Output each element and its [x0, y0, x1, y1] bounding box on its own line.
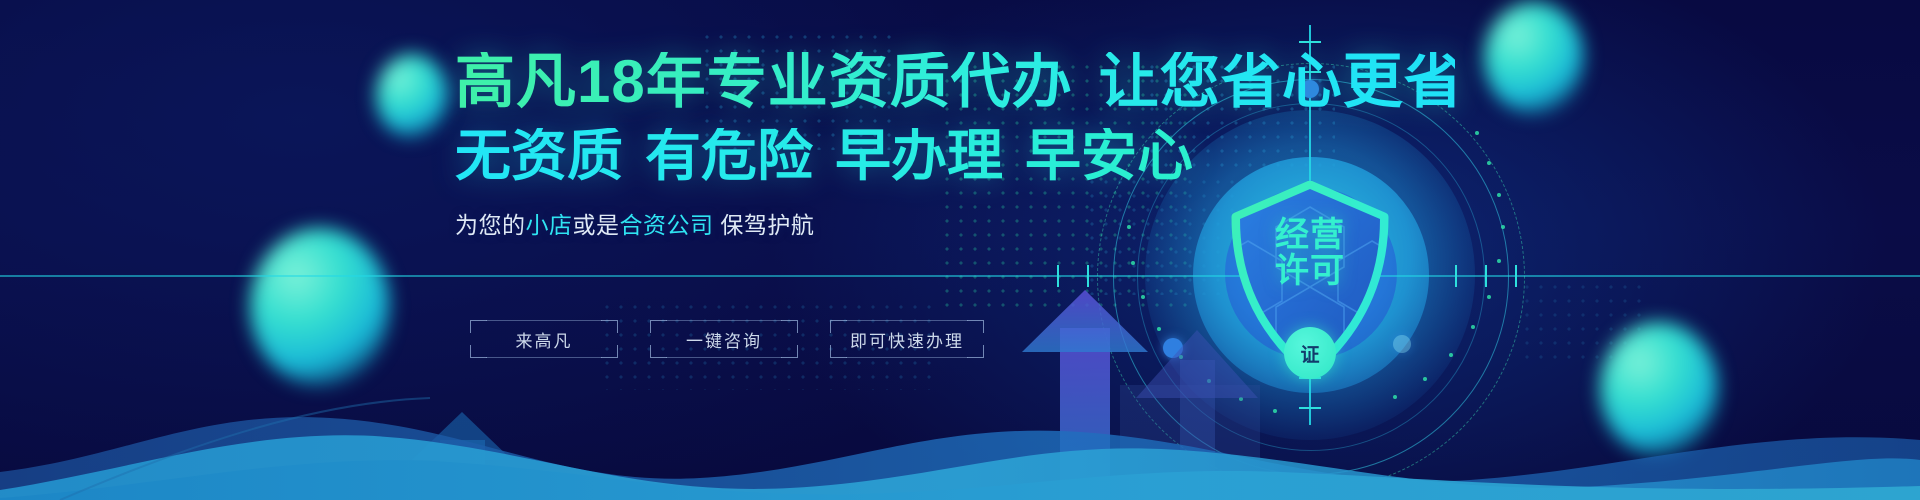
headline-line-1-part-a: 高凡18年专业资质代办	[455, 48, 1073, 115]
promo-banner: 经营 许可 证	[0, 0, 1920, 500]
tag-bottom-rule	[486, 357, 602, 358]
subtitle-highlight-2: 合资公司	[620, 212, 714, 238]
subtitle-middle: 或是	[573, 212, 620, 238]
tag-button-lai-gao-fan[interactable]: 来高凡	[470, 320, 618, 358]
tag-bottom-rule	[846, 357, 968, 358]
tag-top-rule	[486, 320, 602, 321]
subtitle-suffix: 保驾护航	[714, 212, 815, 238]
tag-label: 来高凡	[516, 327, 573, 352]
corner-bracket-icon	[781, 320, 798, 333]
hud-crosshair-horizontal	[0, 275, 1920, 277]
tag-top-rule	[846, 320, 968, 321]
corner-bracket-icon	[470, 320, 487, 333]
corner-bracket-icon	[470, 345, 487, 358]
corner-bracket-icon	[650, 320, 667, 333]
corner-bracket-icon	[830, 345, 847, 358]
subtitle-highlight-1: 小店	[526, 212, 573, 238]
shield-text-line2: 许可	[1228, 253, 1392, 289]
corner-bracket-icon	[650, 345, 667, 358]
headline-phrase-3: 早办理	[835, 124, 1003, 187]
subtitle-prefix: 为您的	[455, 212, 526, 238]
tag-button-one-click-consult[interactable]: 一键咨询	[650, 320, 798, 358]
corner-bracket-icon	[830, 320, 847, 333]
headline-line-1: 高凡18年专业资质代办让您省心更省力	[455, 52, 1455, 112]
headline-line-1-part-b: 让您省心更省力	[1099, 48, 1526, 115]
tag-label: 即可快速办理	[850, 327, 964, 352]
headline-phrase-4: 早安心	[1025, 124, 1193, 187]
headline-line-2: 无资质有危险早办理早安心	[455, 128, 1455, 184]
headline-phrase-2: 有危险	[645, 124, 813, 187]
corner-bracket-icon	[601, 320, 618, 333]
corner-bracket-icon	[967, 320, 984, 333]
tag-label: 一键咨询	[686, 327, 762, 352]
headline-phrase-1: 无资质	[455, 124, 623, 187]
hud-tick-9	[1057, 265, 1059, 287]
corner-bracket-icon	[781, 345, 798, 358]
banner-copy: 高凡18年专业资质代办让您省心更省力 无资质有危险早办理早安心 为您的小店或是合…	[455, 52, 1455, 240]
corner-bracket-icon	[601, 345, 618, 358]
tag-top-rule	[666, 320, 782, 321]
tag-button-group: 来高凡 一键咨询 即可快速办理	[470, 320, 984, 358]
tag-button-fast-processing[interactable]: 即可快速办理	[830, 320, 984, 358]
orb-top-left	[376, 54, 448, 138]
corner-bracket-icon	[967, 345, 984, 358]
tag-bottom-rule	[666, 357, 782, 358]
subtitle: 为您的小店或是合资公司 保驾护航	[455, 206, 1455, 240]
